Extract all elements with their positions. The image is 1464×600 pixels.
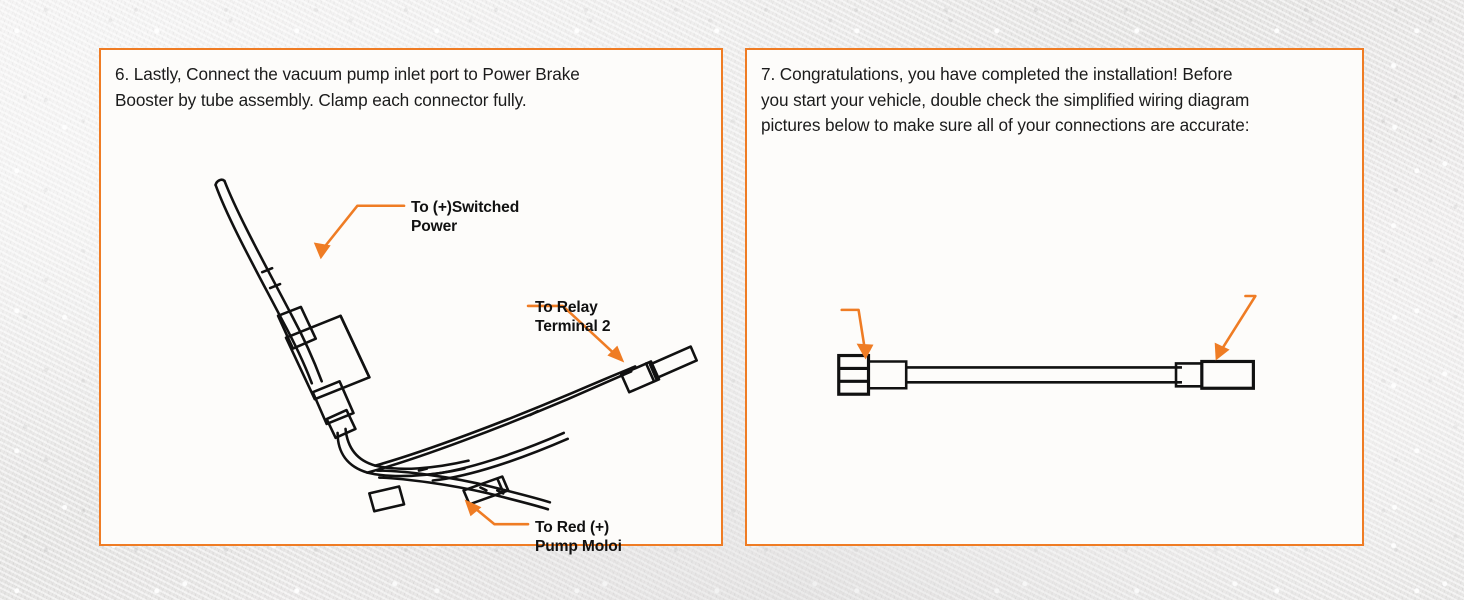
callout-red-pump-motor: To Red (+) Pump Moloi — [535, 518, 622, 556]
arrowhead-relay-terminal-2 — [607, 346, 624, 363]
panel-6-figure — [101, 50, 721, 544]
harness-red-pump-branch — [377, 471, 550, 510]
callout-relay-terminal-2: To Relay Terminal 2 — [535, 298, 610, 336]
wire-left-connector-body — [869, 361, 907, 388]
harness-relay-branch — [367, 347, 696, 473]
harness-switched-power-lead — [216, 180, 322, 384]
instruction-panel-step-7: 7. Congratulations, you have completed t… — [745, 48, 1364, 546]
harness-lower-curve-lead — [338, 429, 469, 476]
harness-branch-split — [429, 433, 568, 481]
wire-right-segment — [1176, 363, 1202, 386]
panel-7-body-text: 7. Congratulations, you have completed t… — [761, 62, 1352, 139]
leader-line-red-pump — [472, 505, 529, 524]
leader-line-relay-teminai-5 — [842, 310, 865, 348]
arrowhead-black-pump — [1215, 343, 1230, 361]
arrowhead-red-pump — [465, 499, 482, 516]
harness-red-terminal-blade — [464, 477, 509, 505]
wire-right-blade-terminal — [1202, 361, 1254, 388]
wire-body — [906, 367, 1182, 382]
arrowhead-switched-power — [314, 242, 331, 259]
callout-switched-power: To (+)Switched Power — [411, 198, 519, 236]
harness-red-pump-motor-terminal — [369, 486, 404, 511]
leader-line-switched-power — [322, 206, 404, 251]
harness-relay-block — [278, 307, 369, 438]
panel-6-body-text: 6. Lastly, Connect the vacuum pump inlet… — [115, 62, 711, 113]
wire-left-connector — [839, 356, 869, 395]
leader-line-black-pump — [1222, 296, 1256, 350]
arrowhead-relay-teminai-5 — [857, 344, 874, 360]
instruction-panel-step-6: 6. Lastly, Connect the vacuum pump inlet… — [99, 48, 723, 546]
